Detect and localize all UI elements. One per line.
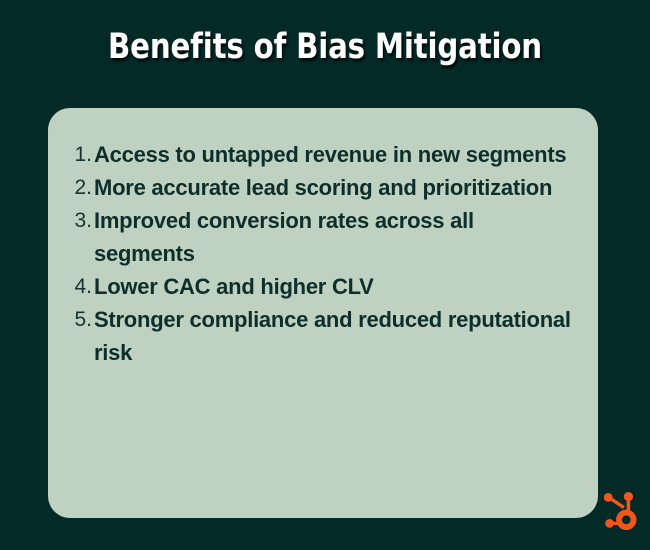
benefits-card: 1.Access to untapped revenue in new segm… bbox=[48, 108, 598, 518]
list-item-label: Lower CAC and higher CLV bbox=[93, 270, 578, 303]
list-item-number: 4. bbox=[66, 270, 93, 303]
list-item-label: More accurate lead scoring and prioritiz… bbox=[93, 171, 578, 204]
list-item-number: 3. bbox=[66, 204, 93, 237]
list-item-number: 5. bbox=[66, 303, 93, 336]
list-item-label: Access to untapped revenue in new segmen… bbox=[93, 138, 578, 171]
page-title: Benefits of Bias Mitigation bbox=[23, 26, 628, 68]
slide-canvas: Benefits of Bias Mitigation 1.Access to … bbox=[0, 0, 650, 550]
hubspot-sprocket-icon bbox=[602, 489, 642, 535]
list-item-label: Stronger compliance and reduced reputati… bbox=[93, 303, 578, 369]
list-item: 4.Lower CAC and higher CLV bbox=[66, 270, 578, 303]
list-item: 2.More accurate lead scoring and priorit… bbox=[66, 171, 578, 204]
list-item: 3.Improved conversion rates across all s… bbox=[66, 204, 578, 270]
list-item-number: 2. bbox=[66, 171, 93, 204]
list-item-label: Improved conversion rates across all seg… bbox=[93, 204, 578, 270]
list-item-number: 1. bbox=[66, 138, 93, 171]
list-item: 5.Stronger compliance and reduced reputa… bbox=[66, 303, 578, 369]
benefits-list: 1.Access to untapped revenue in new segm… bbox=[66, 138, 578, 369]
list-item: 1.Access to untapped revenue in new segm… bbox=[66, 138, 578, 171]
